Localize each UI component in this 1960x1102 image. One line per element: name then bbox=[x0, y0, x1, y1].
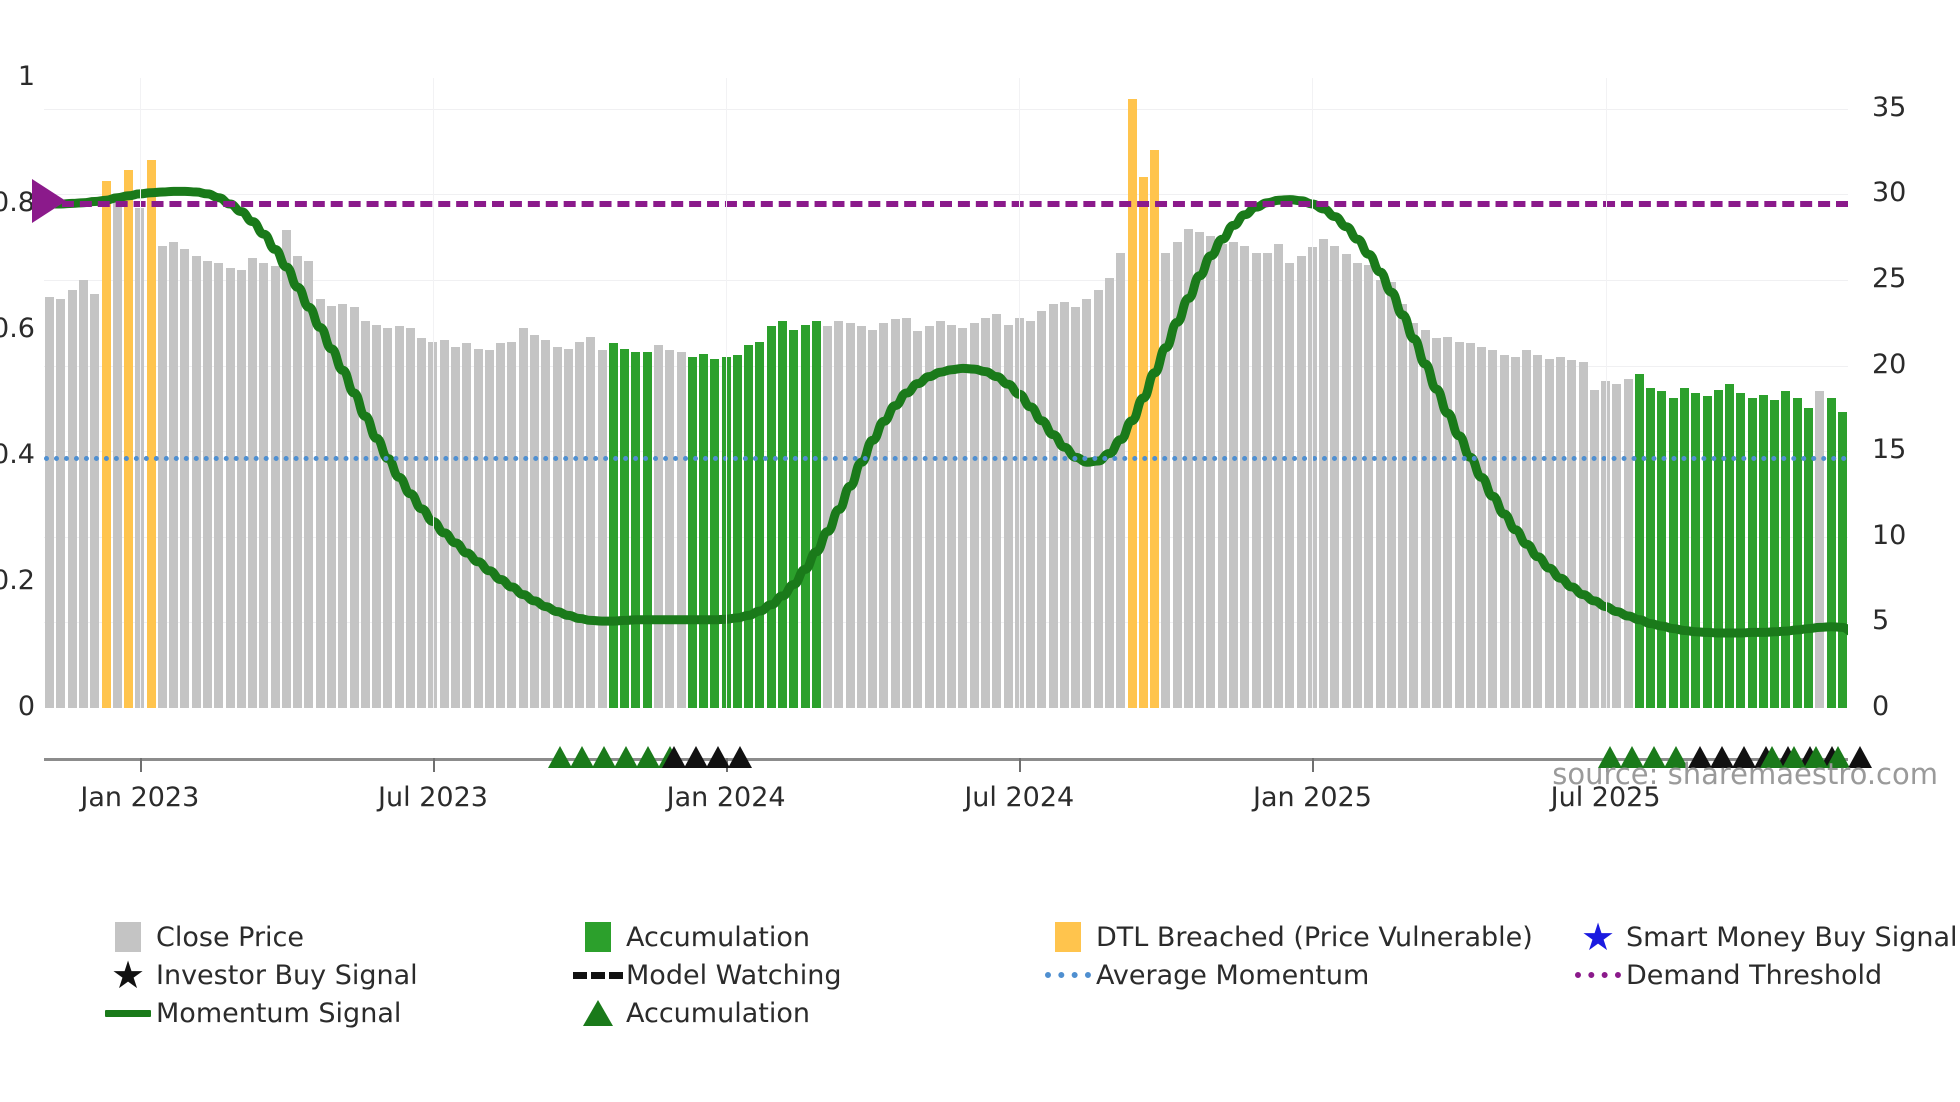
x-gridline bbox=[726, 78, 727, 708]
green-square-icon bbox=[570, 922, 626, 952]
momentum-signal-path bbox=[50, 191, 1848, 642]
legend-label: Accumulation bbox=[626, 998, 810, 1029]
legend-row: Close Price Accumulation DTL Breached (P… bbox=[100, 918, 1950, 956]
chart-legend: Close Price Accumulation DTL Breached (P… bbox=[100, 918, 1950, 1032]
accumulation-marker bbox=[592, 746, 616, 768]
accumulation-marker bbox=[570, 746, 594, 768]
x-axis-tick-label: Jan 2025 bbox=[1253, 782, 1372, 813]
x-gridline bbox=[1312, 78, 1313, 708]
blue-star-icon: ★ bbox=[1570, 918, 1626, 956]
blue-dotted-line-icon bbox=[1040, 972, 1096, 978]
legend-item-model-watching[interactable]: Model Watching bbox=[570, 956, 1040, 994]
right-axis-tick-label: 20 bbox=[1872, 349, 1906, 380]
source-attribution: source: sharemaestro.com bbox=[1552, 757, 1938, 791]
x-axis-tick-label: Jan 2023 bbox=[80, 782, 199, 813]
average-momentum-line bbox=[44, 456, 1848, 461]
investor-buy-signal-marker bbox=[728, 746, 752, 768]
legend-label: DTL Breached (Price Vulnerable) bbox=[1096, 922, 1533, 953]
legend-label: Momentum Signal bbox=[156, 998, 401, 1029]
left-axis-tick-label: 0 bbox=[18, 691, 35, 722]
x-gridline bbox=[140, 78, 141, 708]
left-axis-tick-label: 0.4 bbox=[0, 439, 35, 470]
x-gridline bbox=[1606, 78, 1607, 708]
momentum-signal-line bbox=[44, 78, 1848, 708]
legend-item-dtl-breached[interactable]: DTL Breached (Price Vulnerable) bbox=[1040, 918, 1570, 956]
black-star-icon: ★ bbox=[100, 956, 156, 994]
x-axis-tick-label: Jul 2023 bbox=[378, 782, 488, 813]
right-axis-tick-label: 35 bbox=[1872, 92, 1906, 123]
legend-item-average-momentum[interactable]: Average Momentum bbox=[1040, 956, 1570, 994]
legend-item-accumulation-bar[interactable]: Accumulation bbox=[570, 918, 1040, 956]
legend-label: Investor Buy Signal bbox=[156, 960, 418, 991]
legend-label: Smart Money Buy Signal bbox=[1626, 922, 1958, 953]
investor-buy-signal-marker bbox=[706, 746, 730, 768]
right-axis-tick-label: 5 bbox=[1872, 605, 1889, 636]
accumulation-marker bbox=[614, 746, 638, 768]
purple-dotted-line-icon bbox=[1570, 972, 1626, 978]
legend-row: ★ Investor Buy Signal Model Watching Ave… bbox=[100, 956, 1950, 994]
green-line-icon bbox=[100, 1010, 156, 1017]
legend-label: Close Price bbox=[156, 922, 304, 953]
chart-root: 00.20.40.60.81 05101520253035 Jan 2023Ju… bbox=[0, 0, 1960, 1102]
left-axis-tick-label: 1 bbox=[18, 61, 35, 92]
right-axis-tick-label: 25 bbox=[1872, 263, 1906, 294]
x-axis-tick-label: Jan 2024 bbox=[667, 782, 786, 813]
legend-spacer bbox=[1570, 994, 1950, 1032]
legend-row: Momentum Signal Accumulation bbox=[100, 994, 1950, 1032]
legend-item-momentum-signal[interactable]: Momentum Signal bbox=[100, 994, 570, 1032]
right-axis-tick-label: 0 bbox=[1872, 691, 1889, 722]
legend-label: Demand Threshold bbox=[1626, 960, 1882, 991]
legend-label: Average Momentum bbox=[1096, 960, 1369, 991]
investor-buy-signal-marker bbox=[684, 746, 708, 768]
plot-area bbox=[44, 78, 1848, 708]
legend-item-investor-buy[interactable]: ★ Investor Buy Signal bbox=[100, 956, 570, 994]
x-axis-tick-label: Jul 2024 bbox=[964, 782, 1074, 813]
legend-item-accumulation-triangle[interactable]: Accumulation bbox=[570, 994, 1040, 1032]
demand-threshold-line bbox=[44, 201, 1848, 207]
investor-buy-signal-marker bbox=[662, 746, 686, 768]
black-dashed-line-icon bbox=[570, 972, 626, 979]
gray-square-icon bbox=[100, 922, 156, 952]
right-axis-tick-label: 10 bbox=[1872, 520, 1906, 551]
right-axis-tick-label: 30 bbox=[1872, 177, 1906, 208]
left-axis-tick-label: 0.2 bbox=[0, 565, 35, 596]
accumulation-marker bbox=[548, 746, 572, 768]
smart-money-buy-signal-marker bbox=[32, 179, 66, 223]
right-axis-tick-label: 15 bbox=[1872, 434, 1906, 465]
x-gridline bbox=[433, 78, 434, 708]
legend-label: Model Watching bbox=[626, 960, 841, 991]
plot-clip bbox=[44, 78, 1848, 708]
left-axis-tick-label: 0.8 bbox=[0, 187, 35, 218]
x-gridline bbox=[1019, 78, 1020, 708]
left-axis-tick-label: 0.6 bbox=[0, 313, 35, 344]
accumulation-marker bbox=[636, 746, 660, 768]
orange-square-icon bbox=[1040, 922, 1096, 952]
legend-item-smart-money-buy[interactable]: ★ Smart Money Buy Signal bbox=[1570, 918, 1950, 956]
green-triangle-icon bbox=[570, 1000, 626, 1026]
legend-item-demand-threshold[interactable]: Demand Threshold bbox=[1570, 956, 1950, 994]
legend-label: Accumulation bbox=[626, 922, 810, 953]
legend-spacer bbox=[1040, 994, 1570, 1032]
legend-item-close-price[interactable]: Close Price bbox=[100, 918, 570, 956]
